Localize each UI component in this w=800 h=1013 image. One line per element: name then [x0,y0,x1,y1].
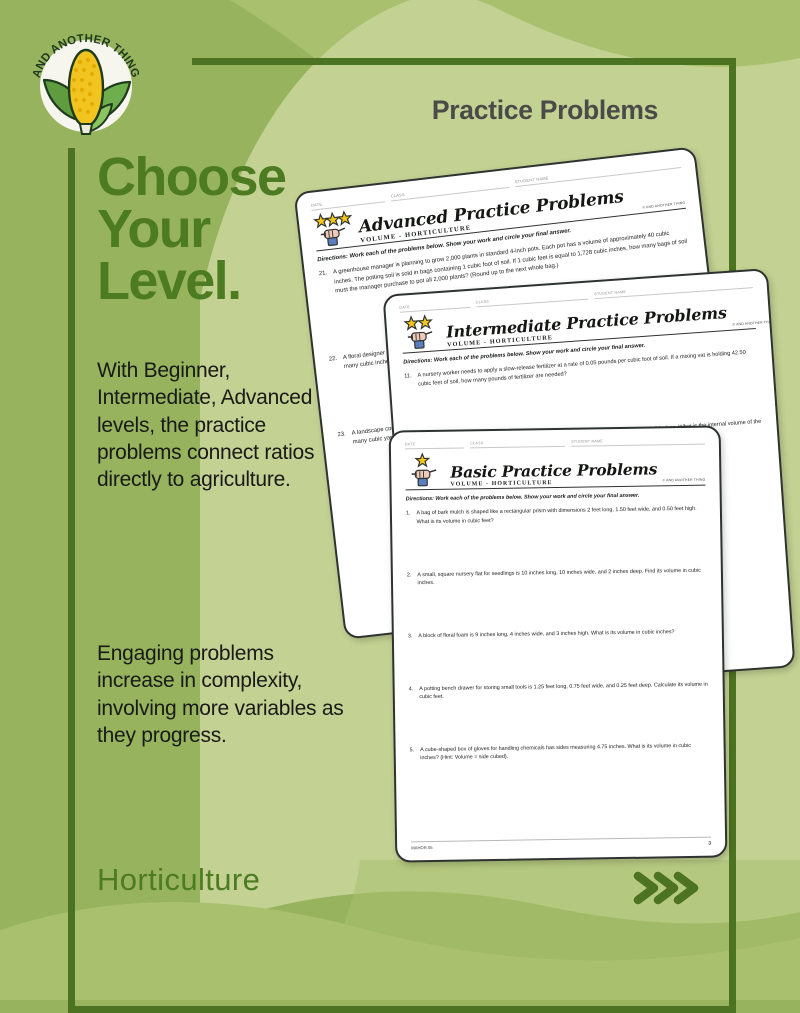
problem-number: 1. [406,510,411,527]
worksheet-title-row: Basic Practice Problems VOLUME - HORTICU… [405,448,706,491]
one-star-mascot-icon [405,452,446,489]
hero-line-2: Your [97,204,342,256]
problem-item: 2. A small, square nursery flat for seed… [407,566,707,588]
poster-border-bottom [68,1006,736,1013]
brand-logo: AND ANOTHER THING [22,14,150,144]
hero-line-3: Level. [97,256,342,308]
worksheet-card-basic[interactable]: DATE CLASS STUDENT NAME [389,425,728,862]
problem-item: 1. A bag of bark mulch is shaped like a … [406,505,706,527]
problem-number: 3. [408,632,413,641]
problem-item: 4. A potting bench drawer for storing sm… [409,680,709,702]
problem-number: 5. [410,746,415,763]
problem-item: 11. A nursery worker needs to apply a sl… [404,348,758,390]
problem-text: A bag of bark mulch is shaped like a rec… [416,505,706,527]
class-field-label: CLASS [470,440,565,448]
problem-item: 3. A block of floral foam is 9 inches lo… [408,628,708,641]
date-field-label: DATE [405,441,464,449]
problem-text: A cube-shaped box of gloves for handling… [420,741,710,763]
description-paragraph-2: Engaging problems increase in complexity… [97,640,349,749]
worksheet-brand-mark: © AND ANOTHER THING [642,201,685,212]
hero-heading: Choose Your Level. [97,152,342,307]
problem-number: 11. [404,372,413,390]
problem-text: A block of floral foam is 9 inches long,… [418,628,708,641]
poster-canvas: AND ANOTHER THING Practice Problems Choo… [0,0,800,1000]
worksheet-title: Basic Practice Problems [450,460,657,482]
worksheet-brand-mark: © AND ANOTHER THING [732,320,775,329]
problem-number: 2. [407,571,412,588]
subject-label: Horticulture [97,862,260,898]
problem-number: 4. [409,685,414,702]
page-title: Practice Problems [380,95,710,126]
two-stars-mascot-icon [400,313,442,352]
problem-text: A small, square nursery flat for seedlin… [417,566,707,588]
hero-line-1: Choose [97,152,342,204]
problem-text: A potting bench drawer for storing small… [419,680,709,702]
worksheet-directions: Directions: Work each of the problems be… [406,492,706,503]
worksheet-problem-list: 1. A bag of bark mulch is shaped like a … [406,505,710,763]
problem-item: 5. A cube-shaped box of gloves for handl… [410,741,710,763]
student-name-field-label: STUDENT NAME [571,438,705,447]
worksheet-footer-code: MAHOR.05 [411,845,433,851]
worksheet-footer: MAHOR.05 3 [411,837,711,852]
description-paragraph-1: With Beginner, Intermediate, Advanced le… [97,357,349,493]
worksheet-brand-mark: © AND ANOTHER THING [662,478,705,485]
worksheet-page-number: 3 [708,841,711,847]
triple-chevron-right-icon [630,868,702,908]
